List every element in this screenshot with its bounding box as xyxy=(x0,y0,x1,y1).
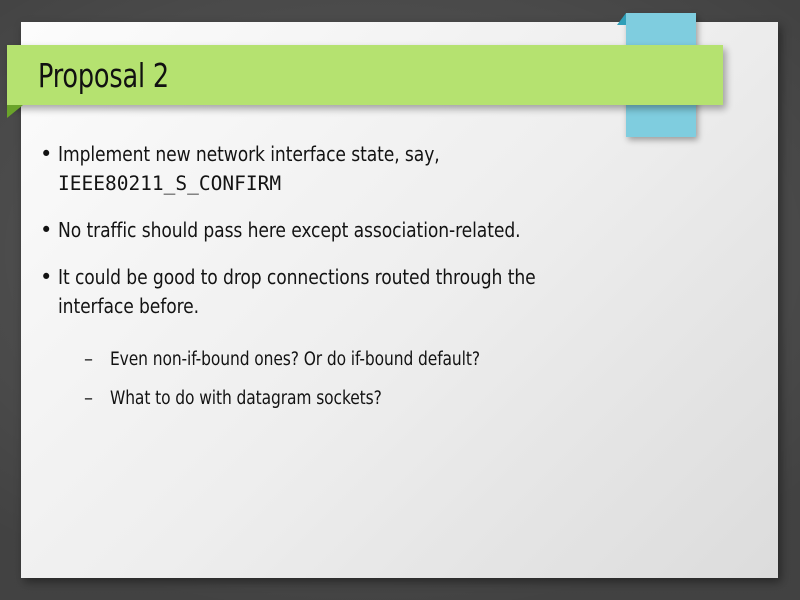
sub-bullet-line: What to do with datagram sockets? xyxy=(110,386,775,412)
sub-bullet-line: Even non-if-bound ones? Or do if-bound d… xyxy=(110,347,775,373)
presentation-slide-viewport: Proposal 2 • Implement new network inter… xyxy=(0,0,800,600)
bullet-line: No traffic should pass here except assoc… xyxy=(58,216,774,245)
title-banner-fold-icon xyxy=(7,105,23,118)
bullet-item: • It could be good to drop connections r… xyxy=(21,263,778,321)
bullet-line: It could be good to drop connections rou… xyxy=(58,263,800,292)
bullet-line-code: IEEE80211_S_CONFIRM xyxy=(58,169,778,198)
bullet-item: • No traffic should pass here except ass… xyxy=(21,216,778,245)
bullet-marker-icon: • xyxy=(40,140,52,169)
sub-bullet-dash-icon: – xyxy=(84,386,93,412)
blue-accent-bar-fold-icon xyxy=(617,13,626,25)
bullet-line: interface before. xyxy=(58,292,800,321)
bullet-line: Implement new network interface state, s… xyxy=(58,140,774,169)
slide-title: Proposal 2 xyxy=(38,59,169,92)
bullet-marker-icon: • xyxy=(40,263,52,292)
bullet-marker-icon: • xyxy=(40,216,52,245)
sub-bullet-item: – What to do with datagram sockets? xyxy=(21,386,778,412)
slide-body: • Implement new network interface state,… xyxy=(21,140,778,425)
bullet-item: • Implement new network interface state,… xyxy=(21,140,778,198)
title-banner: Proposal 2 xyxy=(7,45,723,105)
sub-bullet-item: – Even non-if-bound ones? Or do if-bound… xyxy=(21,347,778,373)
sub-bullet-dash-icon: – xyxy=(84,347,93,373)
